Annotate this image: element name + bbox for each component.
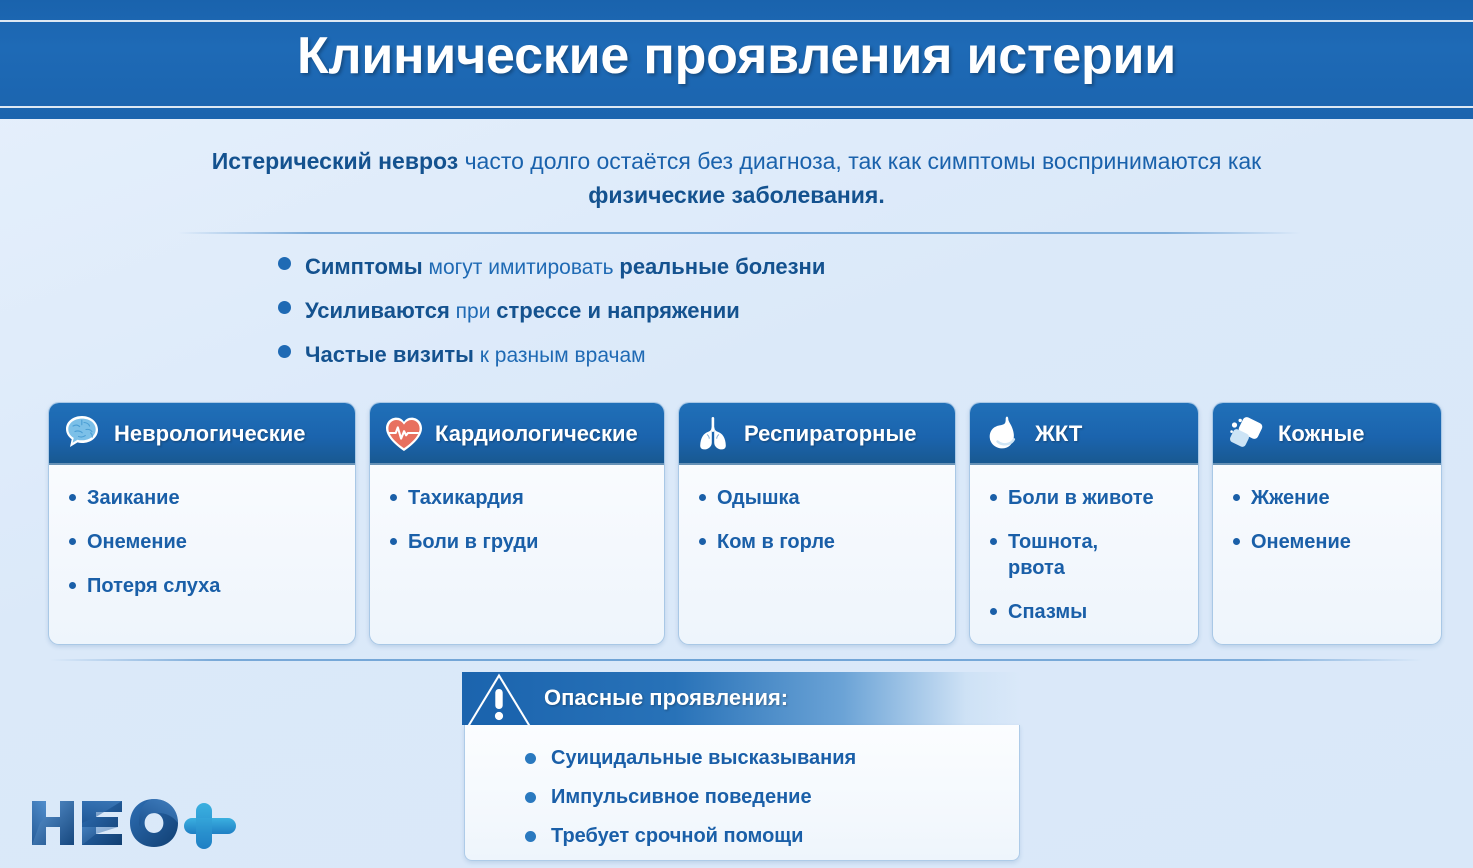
card-item-label: Тошнота, рвота [1008,529,1098,581]
header-rule-top [0,20,1473,22]
bullet-dot-icon [390,538,397,545]
main-bullet-text: Симптомы могут имитировать реальные боле… [305,254,825,280]
list-item: Боли в животе [990,485,1188,511]
symptom-card-row: Неврологические Заикание Онемение Потеря… [48,402,1426,645]
card-neurological: Неврологические Заикание Онемение Потеря… [48,402,356,645]
main-bullet-list: Симптомы могут имитировать реальные боле… [278,254,1078,386]
heart-pulse-icon [382,412,426,456]
intro-middle: часто долго остаётся без диагноза, так к… [458,148,1261,174]
card-header: Кожные [1213,403,1441,465]
list-item: Частые визиты к разным врачам [278,342,1078,386]
card-item-label: Заикание [87,485,180,511]
list-item: Импульсивное поведение [525,778,1019,817]
danger-item-label: Суицидальные высказывания [551,747,856,770]
bullet-dot-icon [990,608,997,615]
card-item-label: Боли в груди [408,529,538,555]
page-title: Клинические проявления истерии [0,26,1473,86]
danger-item-label: Требует срочной помощи [551,825,803,848]
bullet-dot-icon [278,301,291,314]
card-body: Жжение Онемение [1213,465,1441,555]
list-item: Тахикардия [390,485,654,511]
card-item-label: Одышка [717,485,800,511]
warning-triangle-icon [464,670,538,732]
danger-callout-body: Суицидальные высказывания Импульсивное п… [464,725,1020,861]
bullet-dot-icon [69,582,76,589]
card-body: Заикание Онемение Потеря слуха [49,465,355,599]
neo-plus-logo [26,793,256,853]
card-cardiological: Кардиологические Тахикардия Боли в груди [369,402,665,645]
list-item: Симптомы могут имитировать реальные боле… [278,254,1078,298]
card-item-label: Жжение [1251,485,1330,511]
card-item-label: Спазмы [1008,599,1087,625]
header-band: Клинические проявления истерии [0,0,1473,119]
card-respiratory: Респираторные Одышка Ком в горле [678,402,956,645]
list-item: Жжение [1233,485,1431,511]
list-item: Потеря слуха [69,573,345,599]
card-dermatological: Кожные Жжение Онемение [1212,402,1442,645]
card-item-label: Боли в животе [1008,485,1154,511]
card-title: Неврологические [114,421,306,447]
danger-callout-title: Опасные проявления: [544,685,788,711]
list-item: Тошнота, рвота [990,529,1188,581]
lungs-icon [691,412,735,456]
infographic-page: Клинические проявления истерии Истеричес… [0,0,1473,868]
intro-lead: Истерический невроз [212,148,458,174]
list-item: Усиливаются при стрессе и напряжении [278,298,1078,342]
list-item: Требует срочной помощи [525,817,1019,856]
card-title: ЖКТ [1035,421,1082,447]
bullet-dot-icon [525,831,536,842]
divider-top [178,232,1300,234]
bullet-dot-icon [69,538,76,545]
divider-bottom [50,659,1422,661]
bullet-dot-icon [990,538,997,545]
brain-icon [61,412,105,456]
bullet-dot-icon [525,753,536,764]
list-item: Суицидальные высказывания [525,739,1019,778]
bullet-dot-icon [990,494,997,501]
card-gastrointestinal: ЖКТ Боли в животе Тошнота, рвота Спазмы [969,402,1199,645]
bullet-dot-icon [699,494,706,501]
intro-emphasis: физические заболевания. [588,182,884,208]
bullet-dot-icon [1233,538,1240,545]
card-body: Боли в животе Тошнота, рвота Спазмы [970,465,1198,625]
card-item-label: Онемение [1251,529,1351,555]
card-item-label: Потеря слуха [87,573,220,599]
card-body: Одышка Ком в горле [679,465,955,555]
list-item: Онемение [69,529,345,555]
card-header: Кардиологические [370,403,664,465]
header-rule-bottom [0,106,1473,108]
list-item: Онемение [1233,529,1431,555]
card-item-label: Ком в горле [717,529,835,555]
bullet-dot-icon [69,494,76,501]
list-item: Заикание [69,485,345,511]
skin-patch-icon [1225,412,1269,456]
bullet-dot-icon [699,538,706,545]
stomach-icon [982,412,1026,456]
card-header: Неврологические [49,403,355,465]
card-title: Кожные [1278,421,1365,447]
list-item: Боли в груди [390,529,654,555]
card-header: Респираторные [679,403,955,465]
card-title: Кардиологические [435,421,638,447]
card-item-label: Онемение [87,529,187,555]
card-header: ЖКТ [970,403,1198,465]
main-bullet-text: Усиливаются при стрессе и напряжении [305,298,740,324]
card-item-label: Тахикардия [408,485,524,511]
list-item: Ком в горле [699,529,945,555]
card-title: Респираторные [744,421,916,447]
danger-callout: Опасные проявления: Суицидальные высказы… [462,672,1022,864]
intro-paragraph: Истерический невроз часто долго остаётся… [145,144,1328,212]
header-band-foot [0,113,1473,119]
bullet-dot-icon [278,257,291,270]
bullet-dot-icon [1233,494,1240,501]
main-bullet-text: Частые визиты к разным врачам [305,342,646,368]
list-item: Одышка [699,485,945,511]
bullet-dot-icon [525,792,536,803]
list-item: Спазмы [990,599,1188,625]
bullet-dot-icon [278,345,291,358]
card-body: Тахикардия Боли в груди [370,465,664,555]
danger-item-label: Импульсивное поведение [551,786,812,809]
bullet-dot-icon [390,494,397,501]
